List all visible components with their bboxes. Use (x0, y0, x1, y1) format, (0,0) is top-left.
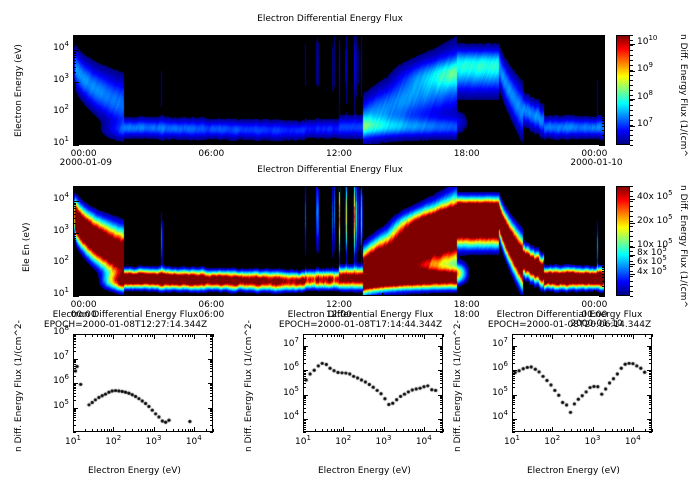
xtick-minor (169, 142, 170, 145)
sp-ytick-minor (303, 402, 306, 403)
xtick-minor-top (296, 35, 297, 38)
ytick-minor (602, 236, 605, 237)
sp-xtick-label-2-2: 103 (579, 437, 607, 447)
sp-ytick-minor-r (210, 341, 213, 342)
sp-ytick-minor (512, 402, 515, 403)
xtick-minor-top (126, 186, 127, 189)
sp-xtick-minor (213, 429, 214, 432)
ytick-label-1-3: 103 (43, 226, 69, 236)
ytick-minor (73, 267, 76, 268)
sp-xtick-minor-t (331, 334, 332, 337)
xtick-minor (339, 293, 340, 296)
cbtick-minor (630, 100, 633, 101)
xtick-minor (467, 142, 468, 145)
sp-ytick-minor-r (440, 396, 443, 397)
ytick-minor (602, 245, 605, 246)
sp-xtick-minor-t (375, 334, 376, 337)
sp-ytick-minor (512, 412, 515, 413)
xtick-minor-top (233, 186, 234, 189)
sp-xtick-minor (577, 429, 578, 432)
sp-xtick-minor-t (104, 334, 105, 337)
ytick-major-0-2 (73, 113, 79, 114)
xtick-minor (573, 293, 574, 296)
sp-xtick-minor-t (548, 334, 549, 337)
xtick-date-0-4: 2000-01-10 (570, 158, 618, 168)
spectrogram-middle-colorbar-frame (616, 186, 630, 296)
sp-ytick-minor-r (649, 370, 652, 371)
sp-xtick-minor-t (591, 334, 592, 337)
sp-ytick-minor-r (649, 387, 652, 388)
ytick-minor (602, 55, 605, 56)
sp-ytick-minor (73, 371, 76, 372)
xtick-minor-top (594, 186, 595, 189)
sp-xtick-minor (612, 429, 613, 432)
cbtick-minor (630, 130, 633, 131)
ytick-minor (73, 255, 76, 256)
ytick-minor (602, 186, 605, 187)
sp-ytick-minor-r (649, 374, 652, 375)
sp-ytick-minor-r (210, 383, 213, 384)
sp-xtick-minor-t (380, 334, 381, 337)
sp-xtick-minor (182, 429, 183, 432)
ytick-minor (602, 53, 605, 54)
ytick-minor (73, 72, 76, 73)
sp-xtick-minor-t (584, 334, 585, 337)
xtick-minor (339, 142, 340, 145)
sp-xtick-label-1-1: 102 (329, 437, 357, 447)
sp-xtick-minor-t (420, 334, 421, 337)
sp-xtick-minor (415, 429, 416, 432)
sp-xtick-minor (362, 429, 363, 432)
ytick-label-1-4: 104 (43, 194, 69, 204)
sp-ytick-minor-r (440, 373, 443, 374)
sp-ytick-minor (512, 355, 515, 356)
sp-ytick-minor (73, 383, 76, 384)
sp-xtick-minor (377, 429, 378, 432)
xtick-minor (84, 293, 85, 296)
ytick-major-1-1 (73, 296, 79, 297)
sp-ytick-minor (73, 361, 76, 362)
sp-ytick-minor-r (440, 427, 443, 428)
sp-ytick-minor-r (210, 415, 213, 416)
xtick-minor-top (552, 35, 553, 38)
sp-xtick-minor (147, 429, 148, 432)
sp-ytick-minor-r (649, 383, 652, 384)
xtick-minor (594, 293, 595, 296)
spectrogram-top-ylabel: Electron Energy (eV) (14, 44, 24, 137)
ytick-minor (602, 94, 605, 95)
sp-ytick-minor (303, 370, 306, 371)
ytick-minor (73, 266, 76, 267)
cbtick-minor (630, 110, 633, 111)
sp-xtick-minor-t (540, 334, 541, 337)
sp-ytick-minor-r (210, 385, 213, 386)
xtick-minor (275, 142, 276, 145)
sp-ytick-minor-r (649, 355, 652, 356)
ytick-major-r-1-2 (599, 264, 605, 265)
ytick-minor (602, 116, 605, 117)
sp-xtick-minor (543, 429, 544, 432)
sp-ytick-minor-r (440, 383, 443, 384)
sp-ytick-minor (512, 398, 515, 399)
sp-ytick-minor (303, 355, 306, 356)
sp-xtick-minor-t (543, 334, 544, 337)
ytick-minor (73, 63, 76, 64)
cbtick (630, 264, 635, 265)
sp-ytick-minor (303, 383, 306, 384)
sp-xtick-minor-t (185, 334, 186, 337)
ytick-minor (73, 186, 76, 187)
ytick-minor (602, 120, 605, 121)
sp-xtick-minor (591, 429, 592, 432)
ytick-minor (73, 238, 76, 239)
xtick-minor-top (594, 35, 595, 38)
sp-xtick-minor (593, 429, 594, 432)
ytick-minor (602, 211, 605, 212)
sp-ytick-minor-r (210, 417, 213, 418)
sp-ytick-minor (303, 397, 306, 398)
ytick-minor (73, 126, 76, 127)
sp-xtick-minor (524, 429, 525, 432)
xtick-minor (233, 142, 234, 145)
sp-xtick-minor-t (92, 334, 93, 337)
ytick-minor (73, 242, 76, 243)
sp-ytick-minor (512, 370, 515, 371)
sp-ytick-minor (512, 387, 515, 388)
ytick-minor (73, 120, 76, 121)
sp-xtick-minor-t (550, 334, 551, 337)
sp-ytick-minor (512, 383, 515, 384)
ytick-minor (602, 67, 605, 68)
sp-xtick-label-1-3: 104 (410, 437, 438, 447)
ytick-minor (73, 208, 76, 209)
sp-xtick-minor (194, 429, 195, 432)
sp-xtick-minor (188, 429, 189, 432)
sp-xtick-minor (173, 429, 174, 432)
sp-ytick-minor-r (440, 374, 443, 375)
sp-xtick-minor-t (141, 334, 142, 337)
cbtick-minor (630, 206, 633, 207)
sp-ytick-minor-r (649, 423, 652, 424)
sp-xtick-minor (420, 429, 421, 432)
sp-ytick-minor-r (440, 420, 443, 421)
sp-xtick-minor (154, 429, 155, 432)
cbtick-minor (630, 286, 633, 287)
sp-ytick-minor (303, 349, 306, 350)
xtick-minor-top (147, 35, 148, 38)
cbtick-minor (630, 246, 633, 247)
sp-xtick-minor-t (327, 334, 328, 337)
sp-xtick-minor (322, 429, 323, 432)
cbtick-minor (630, 135, 633, 136)
sp-ytick-minor-r (210, 387, 213, 388)
sp-xtick-minor-t (633, 334, 634, 337)
sp-ytick-minor (303, 423, 306, 424)
sp-ytick-minor-r (210, 425, 213, 426)
xtick-label-0-3: 18:00 (451, 149, 483, 159)
sp-ytick-minor-r (649, 351, 652, 352)
ytick-minor (73, 245, 76, 246)
sp-xtick-minor-t (571, 334, 572, 337)
sp-ytick-minor-r (440, 425, 443, 426)
spectrogram-top-colorbar-frame (616, 35, 630, 145)
xtick-minor (254, 293, 255, 296)
sp-ytick-minor-r (649, 398, 652, 399)
mid-xtick-date-4: 2000-01-10 (570, 319, 618, 329)
spectrum-right-plot (512, 334, 652, 432)
xtick-minor (445, 293, 446, 296)
sp-ytick-minor (73, 385, 76, 386)
xtick-minor-top (169, 35, 170, 38)
sp-xtick-minor-t (415, 334, 416, 337)
sp-ytick-minor-r (440, 432, 443, 433)
sp-ytick-minor-r (440, 338, 443, 339)
cbtick-minor (630, 261, 633, 262)
cbtick-minor (630, 70, 633, 71)
ytick-minor (602, 281, 605, 282)
xtick-minor-top (105, 35, 106, 38)
cbtick-minor (630, 196, 633, 197)
ytick-minor (73, 115, 76, 116)
cbtick-minor (630, 50, 633, 51)
sp-xtick-minor-t (188, 334, 189, 337)
sp-ytick-minor-r (649, 338, 652, 339)
sp-ytick-minor-r (210, 384, 213, 385)
sp-ytick-label-0-2: 106 (45, 376, 69, 386)
ytick-minor (602, 41, 605, 42)
sp-ytick-minor-r (210, 362, 213, 363)
sp-ytick-minor (303, 419, 306, 420)
ytick-minor (73, 94, 76, 95)
xtick-minor (573, 142, 574, 145)
ytick-minor (602, 267, 605, 268)
cbtick-minor (630, 45, 633, 46)
sp-ytick-minor-r (649, 419, 652, 420)
ytick-minor (73, 123, 76, 124)
ytick-minor (602, 277, 605, 278)
sp-ytick-minor (303, 373, 306, 374)
sp-xtick-label-0-1: 102 (99, 437, 127, 447)
xtick-minor (84, 142, 85, 145)
ytick-minor (73, 203, 76, 204)
sp-ytick-minor-r (440, 380, 443, 381)
sp-ytick-label-2-0: 107 (484, 339, 508, 349)
sp-ytick-minor (512, 395, 515, 396)
ytick-minor (73, 240, 76, 241)
sp-xtick-minor (564, 429, 565, 432)
sp-xtick-minor (531, 429, 532, 432)
ytick-minor (73, 67, 76, 68)
sp-ytick-minor-r (440, 422, 443, 423)
sp-ytick-minor (512, 363, 515, 364)
cbtick-minor (630, 125, 633, 126)
sp-xtick-minor-t (182, 334, 183, 337)
sp-xtick-minor-t (371, 334, 372, 337)
ytick-minor (602, 98, 605, 99)
ytick-minor (73, 52, 76, 53)
sp-xtick-minor (132, 429, 133, 432)
sp-xtick-minor-t (113, 334, 114, 337)
sp-ytick-minor (73, 408, 76, 409)
sp-xtick-label-0-3: 104 (180, 437, 208, 447)
sp-ytick-minor-r (649, 359, 652, 360)
sp-ytick-minor (512, 373, 515, 374)
sp-xtick-minor (337, 429, 338, 432)
sp-ytick-minor-r (210, 351, 213, 352)
sp-ytick-minor (303, 412, 306, 413)
sp-ytick-minor-r (210, 368, 213, 369)
sp-xtick-minor (652, 429, 653, 432)
ytick-minor (73, 286, 76, 287)
sp-xtick-minor-t (512, 334, 513, 337)
sp-ytick-minor (73, 396, 76, 397)
cbtick-minor (630, 140, 633, 141)
sp-ytick-minor-r (440, 371, 443, 372)
sp-ytick-minor (73, 413, 76, 414)
cbtick-minor (630, 115, 633, 116)
sp-ytick-minor (512, 408, 515, 409)
xtick-minor (403, 142, 404, 145)
sp-xtick-minor-t (337, 334, 338, 337)
sp-xtick-minor (185, 429, 186, 432)
xtick-minor-top (254, 186, 255, 189)
spectrum-right-xlabel: Electron Energy (eV) (527, 466, 620, 476)
xtick-minor-top (211, 186, 212, 189)
sp-xtick-label-2-0: 101 (498, 437, 526, 447)
xtick-label-0-2: 12:00 (323, 149, 355, 159)
spectrogram-top-title: Electron Differential Energy Flux (0, 14, 660, 24)
sp-xtick-minor (536, 429, 537, 432)
sp-ytick-minor-r (649, 380, 652, 381)
sp-ytick-minor (73, 360, 76, 361)
xtick-date-0-0: 2000-01-09 (60, 158, 108, 168)
sp-xtick-minor-t (315, 334, 316, 337)
ytick-minor (602, 87, 605, 88)
sp-ytick-minor-r (440, 348, 443, 349)
sp-ytick-minor (73, 339, 76, 340)
sp-xtick-minor (412, 429, 413, 432)
sp-ytick-minor-r (210, 347, 213, 348)
xtick-minor-top (190, 186, 191, 189)
sp-xtick-minor (104, 429, 105, 432)
sp-xtick-minor (631, 429, 632, 432)
sp-xtick-minor (382, 429, 383, 432)
sp-ytick-minor-r (440, 353, 443, 354)
sp-xtick-minor-t (147, 334, 148, 337)
ytick-minor (73, 104, 76, 105)
sp-ytick-minor (73, 341, 76, 342)
sp-xtick-minor (166, 429, 167, 432)
xtick-minor-top (360, 35, 361, 38)
sp-ytick-minor-r (649, 420, 652, 421)
sp-ytick-label-0-0: 108 (45, 327, 69, 337)
xtick-minor (190, 293, 191, 296)
sp-ytick-minor-r (210, 366, 213, 367)
cbtick (630, 71, 635, 72)
sp-xtick-minor (584, 429, 585, 432)
sp-ytick-minor-r (440, 419, 443, 420)
sp-xtick-minor (343, 429, 344, 432)
sp-ytick-minor-r (649, 397, 652, 398)
sp-ytick-minor-r (649, 353, 652, 354)
ytick-minor (73, 271, 76, 272)
sp-xtick-minor (192, 429, 193, 432)
ytick-minor (602, 255, 605, 256)
sp-ytick-minor (512, 423, 515, 424)
sp-xtick-minor (624, 429, 625, 432)
cbtick-minor (630, 75, 633, 76)
ytick-minor (73, 269, 76, 270)
sp-xtick-minor (540, 429, 541, 432)
sp-ytick-minor (73, 387, 76, 388)
xtick-label-1-0: 00:00 (68, 300, 100, 310)
sp-xtick-minor-t (617, 334, 618, 337)
sp-xtick-minor-t (564, 334, 565, 337)
sp-ytick-minor (512, 422, 515, 423)
ytick-minor (73, 130, 76, 131)
sp-xtick-minor (339, 429, 340, 432)
ytick-minor (73, 41, 76, 42)
sp-ytick-minor-r (210, 339, 213, 340)
sp-xtick-minor (380, 429, 381, 432)
xtick-minor-top (531, 35, 532, 38)
ytick-major-r-1-4 (599, 201, 605, 202)
cbtick-minor (630, 95, 633, 96)
ytick-major-r-0-4 (599, 50, 605, 51)
sp-xtick-minor-t (132, 334, 133, 337)
sp-ytick-label-1-1: 106 (275, 363, 299, 373)
ytick-minor (602, 91, 605, 92)
sp-ytick-minor (73, 384, 76, 385)
xtick-minor-top (445, 35, 446, 38)
cbtick-minor (630, 65, 633, 66)
xtick-minor-top (339, 186, 340, 189)
ytick-label-0-1: 101 (43, 138, 69, 148)
ytick-label-1-2: 102 (43, 257, 69, 267)
xtick-minor-top (509, 186, 510, 189)
sp-xtick-minor (138, 429, 139, 432)
sp-xtick-minor-t (109, 334, 110, 337)
xtick-minor (552, 293, 553, 296)
sp-ytick-minor-r (649, 425, 652, 426)
sp-ytick-minor-r (649, 396, 652, 397)
sp-ytick-minor (303, 420, 306, 421)
sp-xtick-minor-t (552, 334, 553, 337)
sp-ytick-minor (73, 388, 76, 389)
sp-ytick-minor-r (649, 400, 652, 401)
sp-xtick-minor (384, 429, 385, 432)
sp-ytick-minor (303, 396, 306, 397)
ytick-minor (602, 208, 605, 209)
sp-xtick-minor (113, 429, 114, 432)
xtick-minor-top (126, 35, 127, 38)
xtick-minor (531, 293, 532, 296)
sp-ytick-minor-r (649, 378, 652, 379)
sp-xtick-minor-t (107, 334, 108, 337)
sp-ytick-minor-r (440, 400, 443, 401)
spectrum-left-ylabel: n Diff. Energy Flux (1/(cm^2- (14, 320, 24, 452)
sp-xtick-minor-t (546, 334, 547, 337)
xtick-minor-top (403, 186, 404, 189)
xtick-minor (190, 142, 191, 145)
sp-xtick-minor (73, 429, 74, 432)
sp-xtick-minor (617, 429, 618, 432)
sp-ytick-minor-r (210, 396, 213, 397)
xtick-minor (233, 293, 234, 296)
xtick-minor-top (190, 35, 191, 38)
xtick-minor (488, 293, 489, 296)
cbtick-label-1-5: 4x 105 (637, 267, 667, 277)
